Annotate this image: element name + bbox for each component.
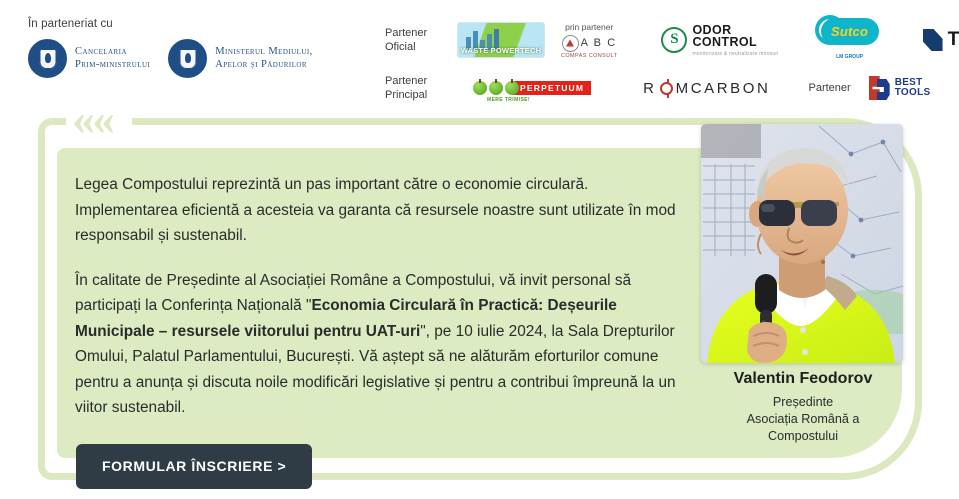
partner-principal-line1: Partener	[385, 75, 427, 87]
sutco-arrow-ring-icon: Sutco	[821, 18, 879, 45]
logo-cancelaria-line2: Prim-ministrului	[75, 59, 150, 70]
partner-principal-label: Partener Principal	[385, 74, 457, 102]
sponsor-partners: Partener Oficial WASTE POWERTECH prin pa…	[385, 14, 950, 110]
government-logo-row: Cancelaria Prim-ministrului Ministerul M…	[28, 39, 368, 78]
best-tools-b-icon	[869, 76, 891, 100]
romanian-government-seal-icon	[28, 39, 67, 78]
logo-waste-powertech-text: WASTE POWERTECH	[458, 46, 544, 55]
odor-line2: CONTROL	[692, 36, 778, 49]
sutco-wordmark: Sutco	[831, 24, 868, 39]
green-apples-icon	[473, 81, 519, 95]
tomra-mark-icon	[923, 29, 943, 51]
partner-bar: În parteneriat cu Cancelaria Prim-minist…	[0, 0, 959, 115]
quote-paragraph-2: În calitate de Președinte al Asociației …	[75, 268, 687, 421]
logo-minister-line2: Apelor și Pădurilor	[215, 59, 307, 70]
logo-minister-text: Ministerul Mediului, Apelor și Pădurilor	[215, 46, 312, 71]
logo-abc-compas-consult: prin partener A B C COMPAS CONSULT	[561, 22, 617, 59]
partner-principal-line2: Principal	[385, 89, 427, 101]
quote-mark-icon: ««	[72, 106, 112, 132]
registration-form-button[interactable]: FORMULAR ÎNSCRIERE >	[76, 444, 312, 489]
speaker-info: Valentin Feodorov Președinte Asociația R…	[690, 370, 916, 445]
speaker-photo	[701, 124, 903, 363]
sutco-group-text: LM GROUP	[836, 54, 863, 60]
compass-icon	[562, 35, 579, 52]
partner-oficial-line1: Partener	[385, 27, 427, 39]
government-partners: În parteneriat cu Cancelaria Prim-minist…	[28, 18, 368, 78]
partner-row-oficial: Partener Oficial WASTE POWERTECH prin pa…	[385, 14, 950, 66]
speaker-role: Președinte Asociația Română a Compostulu…	[690, 394, 916, 445]
logo-romcarbon: R MCARBON	[643, 80, 770, 97]
romanian-government-seal-icon	[168, 39, 207, 78]
logo-cancelaria-text: Cancelaria Prim-ministrului	[75, 46, 150, 71]
partner-oficial-line2: Oficial	[385, 41, 416, 53]
best-line2: TOOLS	[895, 88, 931, 99]
partener-label: Partener	[808, 82, 850, 94]
quote-text: Legea Compostului reprezintă un pas impo…	[75, 172, 687, 421]
logo-cancelaria-line1: Cancelaria	[75, 46, 127, 57]
in-partnership-label: În parteneriat cu	[28, 18, 368, 30]
speaker-name: Valentin Feodorov	[690, 370, 916, 388]
odor-tagline: monitorizare & neutralizare mirosuri	[692, 51, 778, 57]
romcarbon-part2: MCARBON	[676, 80, 771, 97]
logo-odor-control: ODOR CONTROL monitorizare & neutralizare…	[661, 24, 778, 57]
abc-sub-text: COMPAS CONSULT	[561, 53, 617, 59]
logo-minister-line1: Ministerul Mediului,	[215, 46, 312, 57]
romcarbon-atom-icon	[660, 82, 673, 95]
perpetuum-wordmark: PERPETUUM	[513, 81, 591, 95]
perpetuum-tagline: MERE TRIMISE!	[487, 97, 530, 103]
best-tools-text-block: BEST TOOLS	[895, 78, 931, 99]
partner-row-principal: Partener Principal PERPETUUM MERE TRIMIS…	[385, 66, 950, 110]
abc-logo-row: A B C	[561, 35, 617, 52]
logo-cancelaria-prim-ministrului: Cancelaria Prim-ministrului	[28, 39, 150, 78]
prin-partener-label: prin partener	[561, 22, 617, 32]
odor-control-text-block: ODOR CONTROL monitorizare & neutralizare…	[692, 24, 778, 57]
quote-paragraph-1: Legea Compostului reprezintă un pas impo…	[75, 172, 687, 249]
odor-control-swirl-icon	[661, 27, 687, 53]
speaker-photo-illustration	[701, 124, 903, 363]
logo-best-tools: BEST TOOLS	[869, 76, 931, 100]
logo-tomra: TOMRA	[923, 29, 959, 51]
tomra-wordmark: TOMRA	[948, 29, 959, 51]
logo-sutco: Sutco LM GROUP	[821, 18, 879, 63]
logo-waste-powertech: WASTE POWERTECH	[457, 22, 545, 58]
partner-oficial-label: Partener Oficial	[385, 26, 457, 54]
logo-perpetuum: PERPETUUM MERE TRIMISE!	[473, 81, 591, 95]
abc-letters: A B C	[581, 37, 617, 49]
logo-ministerul-mediului: Ministerul Mediului, Apelor și Pădurilor	[168, 39, 312, 78]
romcarbon-part1: R	[643, 80, 656, 97]
